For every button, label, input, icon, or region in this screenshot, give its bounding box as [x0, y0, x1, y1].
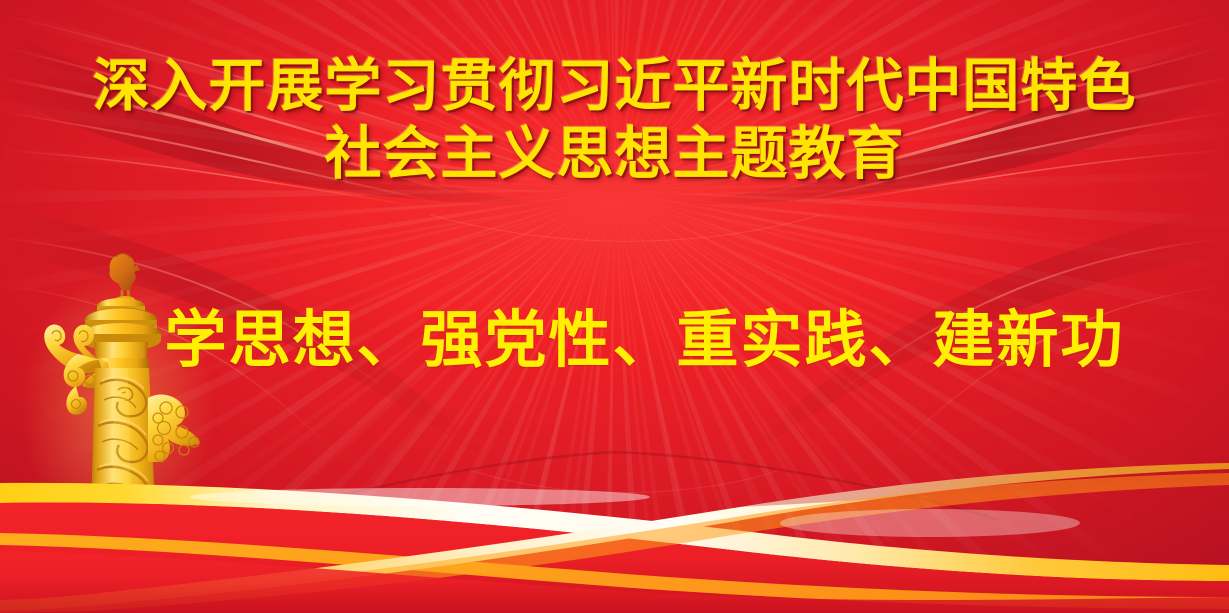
page-title: 深入开展学习贯彻习近平新时代中国特色 社会主义思想主题教育: [0, 52, 1229, 188]
bottom-ribbon-band: [0, 463, 1229, 613]
propaganda-banner: 深入开展学习贯彻习近平新时代中国特色 社会主义思想主题教育 学思想、强党性、重实…: [0, 0, 1229, 613]
slogan-text: 学思想、强党性、重实践、建新功: [0, 303, 1229, 377]
headline-line-2: 社会主义思想主题教育: [0, 120, 1229, 188]
headline-line-1: 深入开展学习贯彻习近平新时代中国特色: [93, 53, 1137, 119]
